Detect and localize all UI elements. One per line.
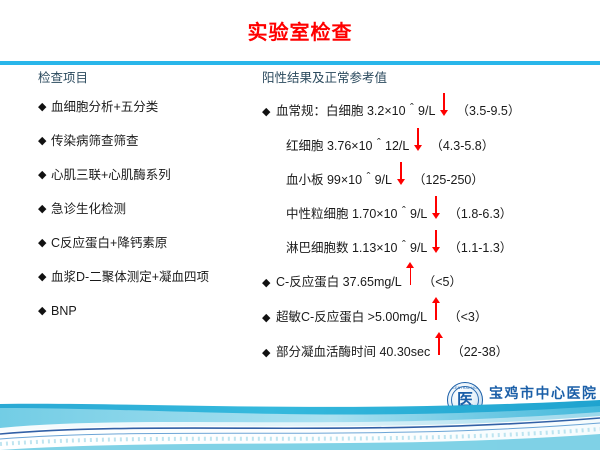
diamond-bullet-icon: ◆ [38,269,51,285]
diamond-bullet-icon: ◆ [38,99,51,115]
arrow-down-icon [437,99,450,115]
arrow-shaft [435,196,437,214]
diamond-bullet-icon: ◆ [38,201,51,217]
result-value-text: 超敏C-反应蛋白 >5.00mg/L [276,309,427,325]
arrow-shaft [435,230,437,248]
result-row: ◆部分凝血活酶时间 40.30sec（22-38） [262,340,598,361]
arrow-head [397,179,405,185]
result-row: ◆血常规：白细胞 3.2×10＾9/L（3.5-9.5） [262,99,598,120]
result-value-text: 淋巴细胞数 1.13×10＾9/L [286,240,427,256]
diamond-bullet-icon: ◆ [38,303,51,319]
slide-canvas: 实验室检查 检查项目 ◆血细胞分析+五分类◆传染病筛查筛查◆心肌三联+心肌酶系列… [0,0,600,450]
exam-item-label: C反应蛋白+降钙素原 [51,235,167,251]
reference-range: （<3） [448,309,487,325]
result-row: ◆超敏C-反应蛋白 >5.00mg/L（<3） [262,305,598,326]
results-header: 阳性结果及正常参考值 [262,70,598,86]
arrow-shaft [400,162,402,180]
exam-item-label: 血细胞分析+五分类 [51,99,158,115]
arrow-shaft [438,338,440,355]
result-value-text: 血小板 99×10＾9/L [286,172,392,188]
exam-item: ◆血细胞分析+五分类 [38,99,260,115]
result-row: ◆C-反应蛋白 37.65mg/L（<5） [262,270,598,291]
arrow-head [432,213,440,219]
exam-item-label: BNP [51,303,77,319]
exam-item-label: 血浆D-二聚体测定+凝血四项 [51,269,209,285]
arrow-head [440,110,448,116]
reference-range: （1.8-6.3） [448,206,512,222]
exam-item: ◆传染病筛查筛查 [38,133,260,149]
arrow-shaft [435,303,437,320]
exam-items-list: ◆血细胞分析+五分类◆传染病筛查筛查◆心肌三联+心肌酶系列◆急诊生化检测◆C反应… [38,99,260,319]
diamond-bullet-icon: ◆ [262,104,276,120]
arrow-down-icon [429,202,442,218]
result-row: 血小板 99×10＾9/L（125-250） [262,168,598,188]
arrow-shaft [410,268,412,285]
arrow-up-icon [432,340,445,356]
arrow-head [435,332,443,338]
arrow-head [406,262,414,268]
reference-range: （<5） [423,274,462,290]
arrow-down-icon [394,168,407,184]
arrow-shaft [443,93,445,111]
exam-item-label: 心肌三联+心肌酶系列 [51,167,171,183]
exam-items-header: 检查项目 [38,70,260,86]
exam-item: ◆心肌三联+心肌酶系列 [38,167,260,183]
arrow-head [432,247,440,253]
title-bar: 实验室检查 [0,20,600,46]
emblem-arc-top-text: BAOJI CENTRAL HOSPITAL [447,386,483,390]
exam-item: ◆急诊生化检测 [38,201,260,217]
arrow-up-icon [429,305,442,321]
arrow-head [414,145,422,151]
result-row: 淋巴细胞数 1.13×10＾9/L（1.1-1.3） [262,236,598,256]
result-row: 红细胞 3.76×10＾12/L（4.3-5.8） [262,134,598,154]
exam-item: ◆血浆D-二聚体测定+凝血四项 [38,269,260,285]
reference-range: （4.3-5.8） [430,138,494,154]
diamond-bullet-icon: ◆ [262,275,276,291]
reference-range: （22-38） [451,344,508,360]
arrow-up-icon [404,270,417,286]
page-title: 实验室检查 [248,20,353,46]
result-value-text: C-反应蛋白 37.65mg/L [276,274,402,290]
footer-wave-decoration [0,398,600,450]
reference-range: （1.1-1.3） [448,240,512,256]
exam-item: ◆C反应蛋白+降钙素原 [38,235,260,251]
arrow-head [432,297,440,303]
reference-range: （125-250） [413,172,484,188]
result-row: 中性粒细胞 1.70×10＾9/L（1.8-6.3） [262,202,598,222]
results-column: 阳性结果及正常参考值 ◆血常规：白细胞 3.2×10＾9/L（3.5-9.5）红… [262,70,598,375]
exam-item-label: 传染病筛查筛查 [51,133,139,149]
arrow-shaft [417,128,419,146]
result-value-text: 血常规：白细胞 3.2×10＾9/L [276,103,435,119]
results-list: ◆血常规：白细胞 3.2×10＾9/L（3.5-9.5）红细胞 3.76×10＾… [262,99,598,361]
result-value-text: 部分凝血活酶时间 40.30sec [276,344,430,360]
diamond-bullet-icon: ◆ [262,345,276,361]
diamond-bullet-icon: ◆ [38,133,51,149]
exam-item: ◆BNP [38,303,260,319]
arrow-down-icon [411,134,424,150]
reference-range: （3.5-9.5） [456,103,520,119]
result-value-text: 中性粒细胞 1.70×10＾9/L [286,206,427,222]
result-value-text: 红细胞 3.76×10＾12/L [286,138,409,154]
arrow-down-icon [429,236,442,252]
exam-items-column: 检查项目 ◆血细胞分析+五分类◆传染病筛查筛查◆心肌三联+心肌酶系列◆急诊生化检… [38,70,260,337]
diamond-bullet-icon: ◆ [38,167,51,183]
exam-item-label: 急诊生化检测 [51,201,126,217]
diamond-bullet-icon: ◆ [38,235,51,251]
diamond-bullet-icon: ◆ [262,310,276,326]
title-divider-rule [0,61,600,65]
